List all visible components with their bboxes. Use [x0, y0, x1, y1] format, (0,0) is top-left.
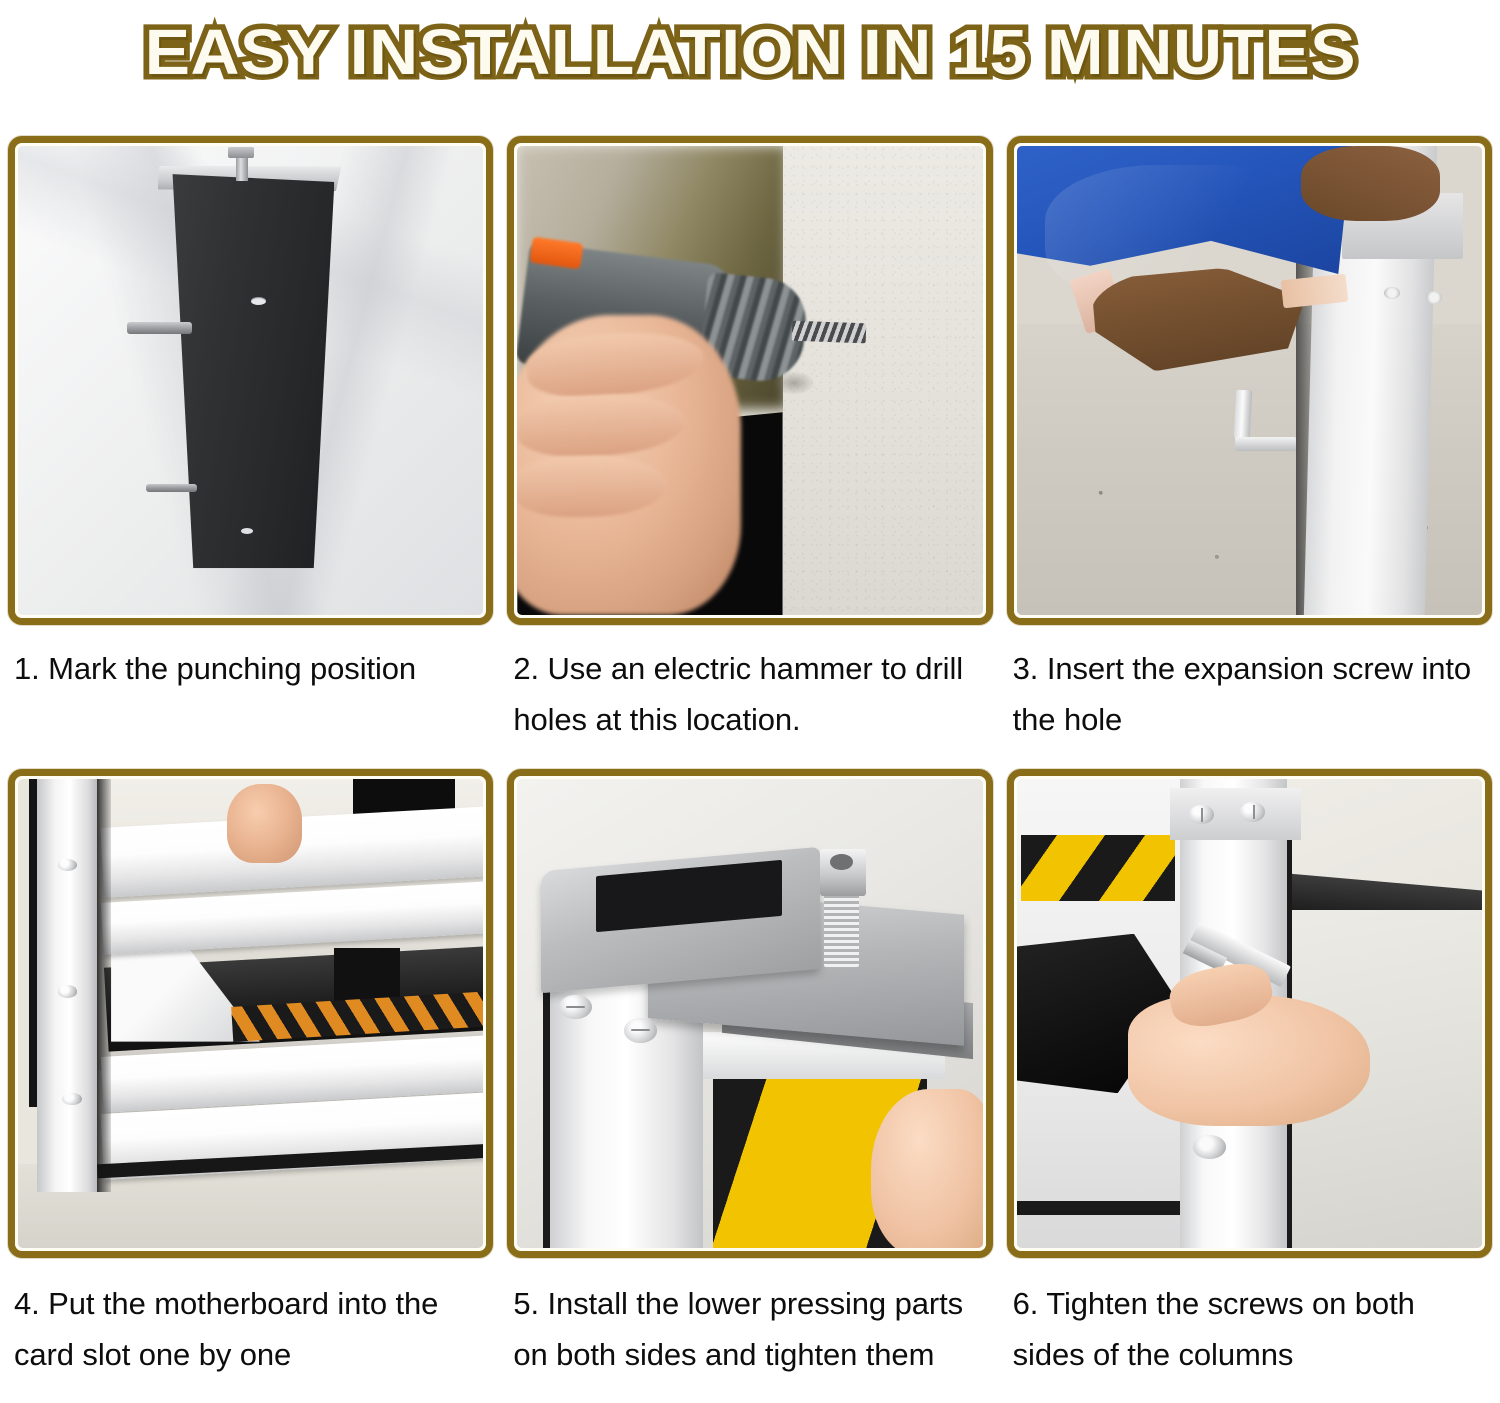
- column-screw-lower: [1193, 1135, 1226, 1158]
- post-right-shadow: [97, 779, 111, 1192]
- step-4-photo-frame: [8, 769, 493, 1258]
- pressing-bolt-thread: [824, 892, 859, 967]
- drilling-holes-photo: [517, 146, 982, 615]
- step-1-caption: 1. Mark the punching position: [8, 629, 493, 769]
- steps-grid: 1. Mark the punching position 2. Use an …: [8, 136, 1492, 1394]
- bottom-seal-strip: [1017, 1201, 1185, 1215]
- install-pressing-parts-photo: [517, 779, 982, 1248]
- allen-key-long-arm: [1234, 389, 1252, 437]
- insert-motherboard-photo: [18, 779, 483, 1248]
- step-4-caption: 4. Put the motherboard into the card slo…: [8, 1262, 493, 1394]
- top-bolt-head: [228, 147, 254, 158]
- drill-bit: [792, 321, 867, 343]
- column-screw-left: [1384, 287, 1400, 299]
- hazard-stripe-panel: [1021, 835, 1175, 901]
- bracket-screw-right: [624, 1018, 657, 1042]
- installation-guide-page: EASY INSTALLATION IN 15 MINUTES: [0, 0, 1500, 1403]
- insert-expansion-screw-photo: [1017, 146, 1482, 615]
- installer-hand: [227, 784, 301, 864]
- step-2-caption: 2. Use an electric hammer to drill holes…: [507, 629, 992, 769]
- post-screw-middle: [58, 985, 78, 997]
- upper-pin: [127, 322, 192, 334]
- upper-arm: [1301, 146, 1441, 221]
- step-5-caption: 5. Install the lower pressing parts on b…: [507, 1262, 992, 1394]
- post-screw-top: [58, 859, 78, 871]
- installer-hand: [871, 1089, 983, 1248]
- step-2-photo-frame: [507, 136, 992, 625]
- column-screw-right: [1426, 291, 1442, 303]
- step-3-photo-frame: [1007, 136, 1492, 625]
- step-1-photo-frame: [8, 136, 493, 625]
- title-banner: EASY INSTALLATION IN 15 MINUTES: [0, 0, 1500, 104]
- drill-dust: [773, 371, 815, 394]
- lower-pin: [146, 484, 197, 492]
- marking-punching-position-photo: [18, 146, 483, 615]
- allen-key-short-arm: [1235, 437, 1295, 450]
- bracket-screw-left: [559, 995, 592, 1019]
- step-6-caption: 6. Tighten the screws on both sides of t…: [1007, 1262, 1492, 1394]
- step-5-photo-frame: [507, 769, 992, 1258]
- pressing-bolt-socket: [830, 854, 853, 870]
- allen-key: [1235, 390, 1295, 451]
- tighten-column-screws-photo: [1017, 779, 1482, 1248]
- page-title: EASY INSTALLATION IN 15 MINUTES: [144, 18, 1355, 86]
- step-3-caption: 3. Insert the expansion screw into the h…: [1007, 629, 1492, 769]
- step-6-photo-frame: [1007, 769, 1492, 1258]
